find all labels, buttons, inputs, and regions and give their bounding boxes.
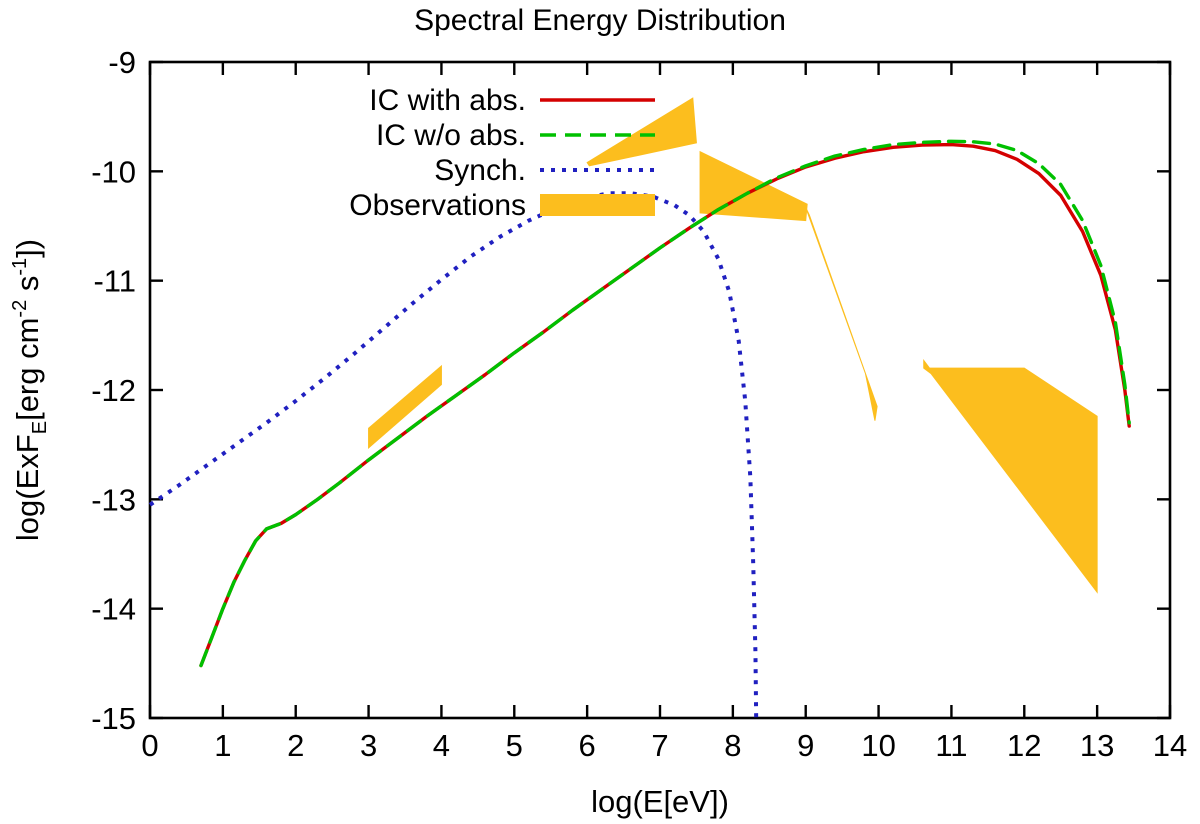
y-tick-label: -9	[108, 45, 136, 80]
y-tick-label: -13	[91, 482, 136, 517]
legend-label-3: Observations	[349, 189, 526, 222]
page-title: Spectral Energy Distribution	[414, 4, 786, 37]
x-tick-label: 13	[1080, 728, 1114, 763]
x-tick-label: 1	[214, 728, 231, 763]
y-tick-label: -12	[91, 373, 136, 408]
x-tick-label: 6	[579, 728, 596, 763]
x-tick-label: 10	[861, 728, 895, 763]
x-tick-label: 12	[1007, 728, 1041, 763]
chart-page: Spectral Energy Distribution 01234567891…	[0, 0, 1200, 824]
x-tick-label: 11	[935, 728, 967, 763]
x-axis-title: log(E[eV])	[591, 784, 729, 819]
legend-swatch-observations	[540, 194, 655, 216]
x-tick-label: 0	[141, 728, 158, 763]
y-tick-label: -15	[91, 701, 136, 736]
x-tick-label: 2	[287, 728, 304, 763]
x-tick-label: 7	[651, 728, 668, 763]
y-axis-title: log(ExFE[erg cm-2 s-1])	[9, 239, 51, 541]
legend-label-2: Synch.	[434, 154, 526, 187]
legend-label-0: IC with abs.	[369, 84, 526, 117]
legend-label-1: IC w/o abs.	[376, 119, 526, 152]
x-tick-label: 4	[433, 728, 450, 763]
x-tick-label: 5	[506, 728, 523, 763]
y-tick-label: -14	[91, 592, 136, 627]
x-tick-label: 9	[797, 728, 814, 763]
y-tick-label: -10	[91, 154, 136, 189]
x-tick-label: 8	[724, 728, 741, 763]
x-tick-label: 14	[1153, 728, 1187, 763]
x-tick-label: 3	[360, 728, 377, 763]
sed-chart: Spectral Energy Distribution 01234567891…	[0, 0, 1200, 824]
y-tick-label: -11	[93, 264, 136, 299]
